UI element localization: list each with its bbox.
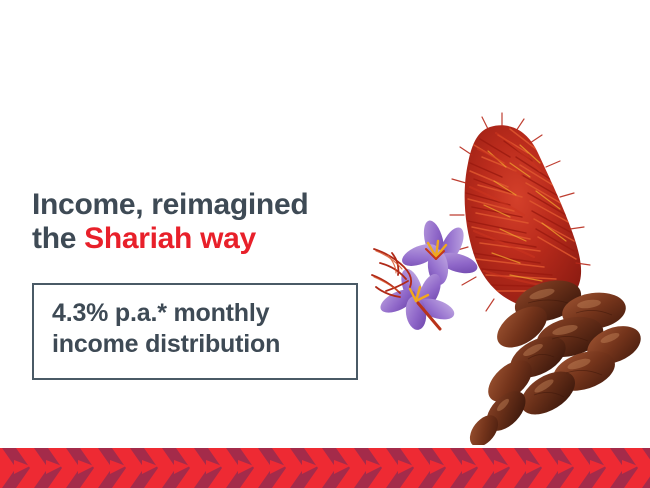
offer-line-2: income distribution [52, 329, 280, 360]
dates-cluster [464, 273, 646, 445]
headline-accent-text: Shariah way [84, 222, 256, 255]
promotional-banner: Income, reimagined the Shariah way 4.3% … [0, 0, 650, 488]
headline-line-2: the Shariah way [32, 222, 308, 256]
offer-text: 4.3% p.a.* monthly income distribution [52, 298, 280, 359]
bottom-chevron-banner [0, 448, 650, 488]
page-title: Income, reimagined the Shariah way [32, 188, 308, 255]
offer-line-1: 4.3% p.a.* monthly [52, 298, 280, 329]
headline-line-2-prefix: the [32, 222, 84, 255]
saffron-and-dates-photo [370, 105, 650, 445]
crocus-flowers [372, 218, 480, 331]
headline-line-1: Income, reimagined [32, 188, 308, 222]
offer-callout-box: 4.3% p.a.* monthly income distribution [32, 283, 358, 380]
